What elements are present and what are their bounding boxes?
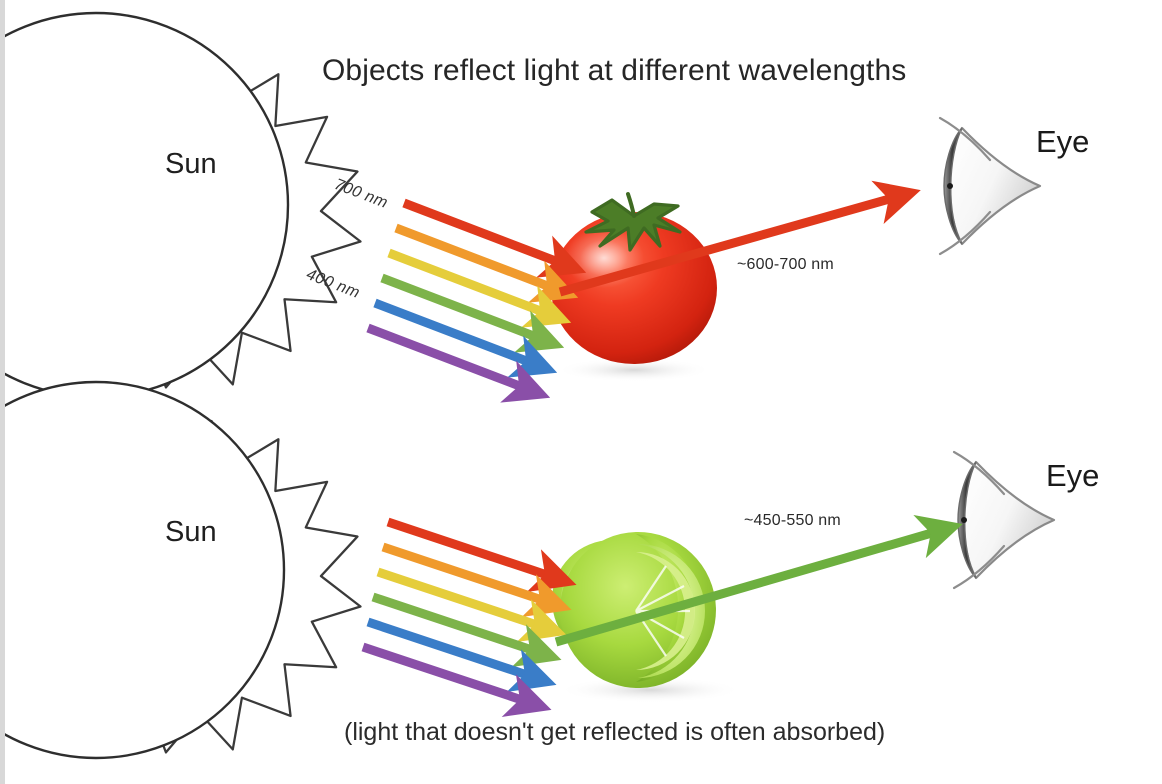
ray-purple bbox=[363, 647, 531, 703]
ray-yellow bbox=[378, 572, 546, 628]
eye-label-top: Eye bbox=[1036, 124, 1089, 160]
eye-label-bottom: Eye bbox=[1046, 458, 1099, 494]
artwork-layer bbox=[0, 0, 1162, 784]
wavelength-label-700: 700 nm bbox=[332, 176, 391, 213]
ray-red bbox=[404, 203, 566, 265]
wavelength-label-400: 400 nm bbox=[304, 266, 363, 303]
sun-icon-bottom bbox=[0, 382, 360, 758]
ray-yellow bbox=[389, 253, 551, 315]
reflected-label-bottom: ~450-550 nm bbox=[744, 512, 841, 530]
ray-green bbox=[373, 597, 541, 653]
ray-orange bbox=[396, 228, 558, 290]
ray-red bbox=[388, 522, 556, 578]
reflected-ray-green bbox=[556, 530, 942, 642]
ray-orange bbox=[383, 547, 551, 603]
ray-blue bbox=[375, 303, 537, 365]
reflected-ray-red bbox=[560, 196, 900, 292]
page-title: Objects reflect light at different wavel… bbox=[322, 54, 906, 88]
ray-green bbox=[382, 278, 544, 340]
diagram-canvas: Objects reflect light at different wavel… bbox=[0, 0, 1162, 784]
tomato-icon bbox=[551, 194, 717, 382]
ray-blue bbox=[368, 622, 536, 678]
eye-icon-bottom bbox=[954, 452, 1054, 588]
reflected-label-top: ~600-700 nm bbox=[737, 256, 834, 274]
lime-icon bbox=[552, 532, 742, 703]
footnote-caption: (light that doesn't get reflected is oft… bbox=[344, 718, 885, 747]
sun-icon-top bbox=[0, 13, 360, 397]
ray-purple bbox=[368, 328, 530, 390]
incoming-rays-bottom bbox=[363, 522, 556, 703]
incoming-rays-top bbox=[368, 203, 566, 390]
sun-label-bottom: Sun bbox=[165, 516, 217, 549]
sun-label-top: Sun bbox=[165, 148, 217, 181]
eye-icon-top bbox=[940, 118, 1040, 254]
left-edge-strip bbox=[0, 0, 5, 784]
